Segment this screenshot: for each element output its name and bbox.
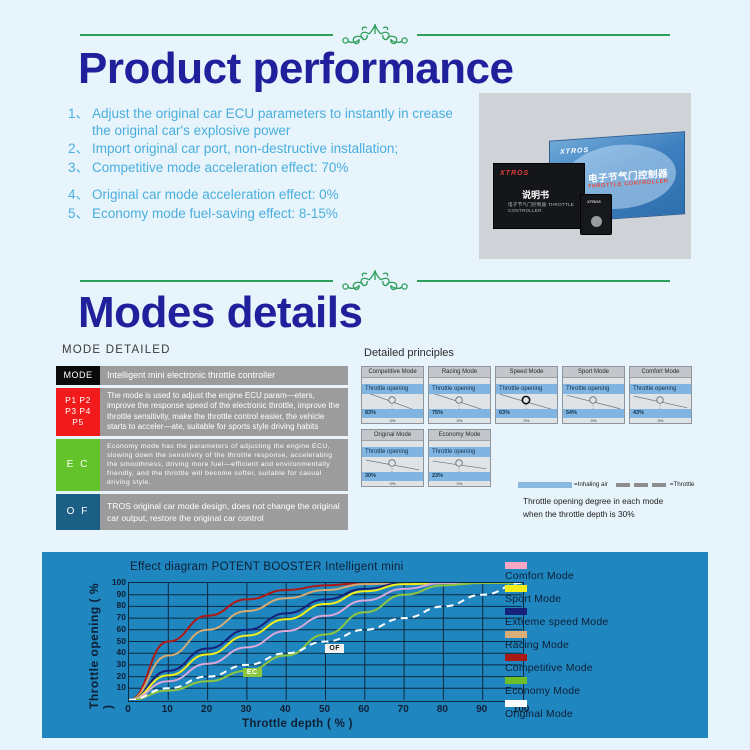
list-item-text: Original car mode acceleration effect: 0…: [92, 187, 468, 204]
list-item-number: 3、: [68, 160, 92, 177]
chart-legend-label: Comfort Mode: [505, 569, 608, 583]
list-item: 2、 Import original car port, non-destruc…: [68, 141, 468, 158]
mode-card-bar-label: Throttle opening: [429, 384, 490, 394]
mode-card-title: Racing Mode: [429, 367, 490, 378]
principles-caption-line2: when the throttle depth is 30%: [523, 508, 733, 521]
feature-list: 1、 Adjust the original car ECU parameter…: [68, 106, 468, 224]
list-item-number: 5、: [68, 206, 92, 223]
inhaling-air-swatch: [518, 482, 572, 488]
chart-y-tick: 30: [102, 659, 126, 669]
chart-legend-item: Economy Mode: [505, 677, 608, 698]
chart-legend-item: Extreme speed Mode: [505, 608, 608, 629]
chart-legend-swatch: [505, 654, 527, 661]
table-row: P1 P2 P3 P4 P5 The mode is used to adjus…: [56, 388, 348, 436]
product-controller-unit: XTROS: [580, 194, 612, 235]
row-body: The mode is used to adjust the engine EC…: [100, 388, 348, 436]
chart-legend-swatch: [505, 562, 527, 569]
chart-legend-label: Economy Mode: [505, 684, 608, 698]
mode-card-foot: 0%: [630, 418, 691, 424]
page-title-modes-details: Modes details: [78, 288, 362, 338]
mode-card-foot: 0%: [362, 481, 423, 487]
chart-legend-item: Racing Mode: [505, 631, 608, 652]
chart-legend-label: Sport Mode: [505, 592, 608, 606]
row-body: Intelligent mini electronic throttle con…: [100, 366, 348, 385]
chart-y-tick: 40: [102, 647, 126, 657]
mode-card-value: 63%: [496, 409, 557, 418]
chart-x-tick: 80: [429, 704, 455, 715]
chart-legend-label: Extreme speed Mode: [505, 615, 608, 629]
product-manual: XTROS 说明书 电子节气门控制器 THROTTLE CONTROLLER: [493, 163, 585, 229]
mode-card-plot: Throttle opening 63% 0%: [496, 378, 557, 424]
chart-x-tick: 20: [194, 704, 220, 715]
chart-legend-swatch: [505, 677, 527, 684]
principles-caption-line1: Throttle opening degree in each mode: [523, 495, 733, 508]
ornament-line-left: [80, 280, 333, 282]
chart-x-axis-label: Throttle depth ( % ): [242, 718, 353, 730]
mode-card-bar-label: Throttle opening: [362, 384, 423, 394]
row-body: TROS original car mode design, does not …: [100, 494, 348, 530]
chart-x-tick: 40: [272, 704, 298, 715]
mode-card-title: Comfort Mode: [630, 367, 691, 378]
throttle-label: =Throttle: [670, 481, 695, 488]
list-item-text: Import original car port, non-destructiv…: [92, 141, 468, 158]
chart-plot-area: OF EC: [128, 582, 524, 702]
mode-card-original: Original Mode Throttle opening 30% 0%: [361, 429, 424, 487]
chart-svg: [129, 583, 522, 700]
list-item-text: Competitive mode acceleration effect: 70…: [92, 160, 468, 177]
manual-subtitle-label: 电子节气门控制器 THROTTLE CONTROLLER: [508, 202, 584, 213]
table-row: E C Economy mode has the parameters of a…: [56, 439, 348, 491]
chart-y-tick: 90: [102, 589, 126, 599]
mode-card-value: 30%: [362, 472, 423, 481]
chart-legend-swatch: [505, 585, 527, 592]
chart-y-tick: 70: [102, 612, 126, 622]
mode-card-plot: Throttle opening 75% 0%: [429, 378, 490, 424]
list-item: 5、 Economy mode fuel-saving effect: 8-15…: [68, 206, 468, 223]
inhaling-air-label: =Inhaling air: [574, 481, 608, 488]
table-row: O F TROS original car mode design, does …: [56, 494, 348, 530]
unit-brand-label: XTROS: [587, 199, 601, 204]
list-item: 4、 Original car mode acceleration effect…: [68, 187, 468, 204]
row-tag: E C: [56, 439, 100, 491]
throttle-swatch: [616, 483, 668, 487]
mode-card-competitive: Competitive Mode Throttle opening 83% 0%: [361, 366, 424, 424]
row-body: Economy mode has the parameters of adjus…: [100, 439, 348, 491]
list-item-text: Adjust the original car ECU parameters t…: [92, 106, 468, 139]
chart-annotation-ec: EC: [243, 668, 262, 677]
legend-row: =Inhaling air =Throttle: [518, 481, 723, 488]
chart-y-tick: 50: [102, 636, 126, 646]
mode-card-value: 75%: [429, 409, 490, 418]
list-item: 1、 Adjust the original car ECU parameter…: [68, 106, 468, 139]
ornament-line-right: [417, 34, 670, 36]
row-tag: P1 P2 P3 P4 P5: [56, 388, 100, 436]
mode-card-foot: 0%: [429, 481, 490, 487]
chart-y-tick: 20: [102, 671, 126, 681]
mode-card-bar-label: Throttle opening: [563, 384, 624, 394]
mode-card-value: 23%: [429, 472, 490, 481]
chart-y-tick: 60: [102, 624, 126, 634]
chart-legend-item: Original Mode: [505, 700, 608, 721]
chart-title: Effect diagram POTENT BOOSTER Intelligen…: [130, 561, 404, 573]
chart-legend-swatch: [505, 608, 527, 615]
mode-card-plot: Throttle opening 30% 0%: [362, 441, 423, 487]
mode-card-plot: Throttle opening 23% 0%: [429, 441, 490, 487]
chart-x-tick: 30: [233, 704, 259, 715]
unit-button-icon: [591, 216, 602, 227]
mode-card-value: 43%: [630, 409, 691, 418]
chart-legend-item: Competitive Mode: [505, 654, 608, 675]
mode-card-foot: 0%: [496, 418, 557, 424]
mode-card-foot: 0%: [362, 418, 423, 424]
chart-legend-label: Competitive Mode: [505, 661, 608, 675]
chart-y-ticks: 102030405060708090100: [98, 582, 126, 702]
mode-card-bar-label: Throttle opening: [630, 384, 691, 394]
mode-card-bar-label: Throttle opening: [496, 384, 557, 394]
chart-y-tick: 80: [102, 600, 126, 610]
detailed-principles-label: Detailed principles: [364, 347, 454, 359]
mode-card-racing: Racing Mode Throttle opening 75% 0%: [428, 366, 491, 424]
mode-card-speed: Speed Mode Throttle opening 63% 0%: [495, 366, 558, 424]
chart-y-tick: 100: [102, 577, 126, 587]
mode-card-value: 83%: [362, 409, 423, 418]
chart-x-ticks: 0102030405060708090100: [128, 704, 524, 718]
chart-x-tick: 10: [154, 704, 180, 715]
mode-card-foot: 0%: [563, 418, 624, 424]
list-item-number: 4、: [68, 187, 92, 204]
chart-x-tick: 0: [115, 704, 141, 715]
chart-legend-label: Original Mode: [505, 707, 608, 721]
chart-annotation-of: OF: [325, 644, 344, 653]
mode-card-title: Original Mode: [362, 430, 423, 441]
mode-card-foot: 0%: [429, 418, 490, 424]
chart-x-tick: 90: [469, 704, 495, 715]
list-item-number: 2、: [68, 141, 92, 158]
list-item-number: 1、: [68, 106, 92, 139]
mode-card-comfort: Comfort Mode Throttle opening 43% 0%: [629, 366, 692, 424]
chart-legend-item: Comfort Mode: [505, 562, 608, 583]
chart-x-tick: 60: [351, 704, 377, 715]
manual-chinese-label: 说明书: [522, 188, 549, 201]
page-title-product-performance: Product performance: [78, 44, 513, 94]
mode-card-bar-label: Throttle opening: [362, 447, 423, 457]
ornament-line-right: [417, 280, 670, 282]
mode-detailed-table: MODE Intelligent mini electronic throttl…: [56, 366, 348, 533]
row-tag: MODE: [56, 366, 100, 385]
list-item: 3、 Competitive mode acceleration effect:…: [68, 160, 468, 177]
row-tag: O F: [56, 494, 100, 530]
mode-card-title: Economy Mode: [429, 430, 490, 441]
mode-card-title: Competitive Mode: [362, 367, 423, 378]
mode-card-title: Speed Mode: [496, 367, 557, 378]
chart-legend-label: Racing Mode: [505, 638, 608, 652]
chart-y-tick: 10: [102, 682, 126, 692]
principles-legend: =Inhaling air =Throttle: [518, 481, 723, 488]
mode-card-economy: Economy Mode Throttle opening 23% 0%: [428, 429, 491, 487]
product-photo: XTROS 电子节气门控制器 THROTTLE CONTROLLER XTROS…: [479, 93, 691, 259]
chart-x-tick: 70: [390, 704, 416, 715]
mode-card-plot: Throttle opening 43% 0%: [630, 378, 691, 424]
chart-x-tick: 50: [312, 704, 338, 715]
mode-card-plot: Throttle opening 54% 0%: [563, 378, 624, 424]
mode-card-sport: Sport Mode Throttle opening 54% 0%: [562, 366, 625, 424]
chart-legend-item: Sport Mode: [505, 585, 608, 606]
ornament-line-left: [80, 34, 333, 36]
principles-caption: Throttle opening degree in each mode whe…: [523, 495, 733, 520]
chart-legend-swatch: [505, 631, 527, 638]
mode-detailed-label: MODE DETAILED: [62, 344, 171, 356]
mode-card-title: Sport Mode: [563, 367, 624, 378]
chart-legend: Comfort ModeSport ModeExtreme speed Mode…: [505, 562, 608, 723]
mode-card-value: 54%: [563, 409, 624, 418]
table-row: MODE Intelligent mini electronic throttl…: [56, 366, 348, 385]
manual-brand-label: XTROS: [500, 170, 529, 177]
list-item-text: Economy mode fuel-saving effect: 8-15%: [92, 206, 468, 223]
chart-legend-swatch: [505, 700, 527, 707]
mode-card-plot: Throttle opening 83% 0%: [362, 378, 423, 424]
mode-card-bar-label: Throttle opening: [429, 447, 490, 457]
